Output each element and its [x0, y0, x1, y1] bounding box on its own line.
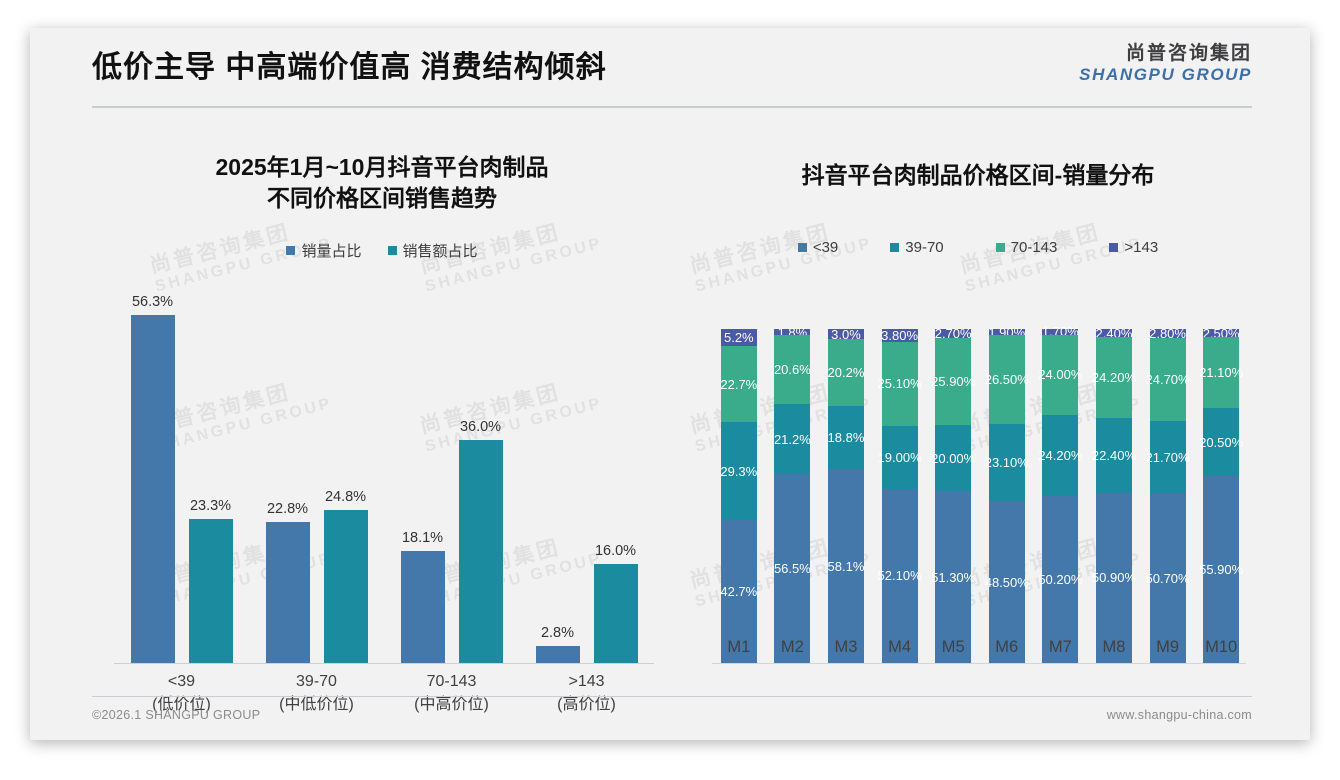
- stack-segment-label: 58.1%: [828, 559, 865, 574]
- stack-segment-label: 50.90%: [1092, 570, 1136, 585]
- bar-value-label: 18.1%: [402, 530, 443, 546]
- legend-label: 39-70: [905, 239, 943, 256]
- left-chart-legend: 销量占比 销售额占比: [92, 240, 672, 261]
- stack-segment[interactable]: 21.10%: [1203, 337, 1239, 407]
- legend-label: 销售额占比: [403, 240, 478, 261]
- brand-logo: 尚普咨询集团 SHANGPU GROUP: [1079, 44, 1252, 84]
- stack-segment-label: 21.10%: [1199, 365, 1243, 380]
- x-axis-label: M4: [873, 638, 927, 657]
- right-chart-axis: [712, 663, 1246, 664]
- bar[interactable]: [594, 564, 638, 663]
- slide: 尚普咨询集团 SHANGPU GROUP 尚普咨询集团 SHANGPU GROU…: [30, 28, 1310, 740]
- stack-segment[interactable]: 5.2%: [721, 329, 757, 346]
- stack-column[interactable]: 1.90%26.50%23.10%48.50%: [980, 329, 1034, 663]
- left-chart-axis: [114, 663, 654, 664]
- stack-segment[interactable]: 25.90%: [935, 338, 971, 425]
- bar-value-label: 56.3%: [132, 294, 173, 310]
- left-chart-title-line1: 2025年1月~10月抖音平台肉制品: [92, 152, 672, 183]
- bar-column[interactable]: 22.8%: [266, 292, 310, 663]
- legend-label: >143: [1124, 239, 1158, 256]
- x-axis-label: M5: [926, 638, 980, 657]
- bar[interactable]: [401, 551, 445, 663]
- right-chart-stacks: 5.2%22.7%29.3%42.7%1.8%20.6%21.2%56.5%3.…: [712, 329, 1246, 663]
- legend-swatch-icon: [890, 243, 899, 252]
- x-axis-label: M8: [1087, 638, 1141, 657]
- bar[interactable]: [266, 522, 310, 663]
- stacked-bar[interactable]: 5.2%22.7%29.3%42.7%: [721, 329, 757, 663]
- bar-column[interactable]: 2.8%: [536, 292, 580, 663]
- stack-segment-label: 52.10%: [878, 568, 922, 583]
- x-axis-label-range: 70-143: [384, 670, 519, 693]
- stack-segment[interactable]: 26.50%: [989, 335, 1025, 424]
- stack-segment[interactable]: 24.70%: [1150, 338, 1186, 421]
- stack-segment-label: 51.30%: [931, 570, 975, 585]
- bar[interactable]: [189, 519, 233, 663]
- stacked-bar[interactable]: 2.50%21.10%20.50%55.90%: [1203, 329, 1239, 663]
- bar[interactable]: [324, 510, 368, 663]
- stack-segment[interactable]: 24.20%: [1042, 415, 1078, 496]
- stack-segment[interactable]: 2.80%: [1150, 329, 1186, 338]
- stack-segment-label: 42.7%: [720, 584, 757, 599]
- bar[interactable]: [459, 440, 503, 663]
- stacked-bar[interactable]: 2.80%24.70%21.70%50.70%: [1150, 329, 1186, 663]
- stack-column[interactable]: 1.70%24.00%24.20%50.20%: [1034, 329, 1088, 663]
- footer-divider: [92, 696, 1252, 697]
- footer-copyright: ©2026.1 SHANGPU GROUP: [92, 708, 260, 722]
- legend-swatch-icon: [996, 243, 1005, 252]
- stack-segment-label: 29.3%: [720, 464, 757, 479]
- stack-segment-label: 26.50%: [985, 372, 1029, 387]
- stack-column[interactable]: 2.40%24.20%22.40%50.90%: [1087, 329, 1141, 663]
- stacked-bar[interactable]: 1.8%20.6%21.2%56.5%: [774, 329, 810, 663]
- stack-segment[interactable]: 21.2%: [774, 404, 810, 475]
- stack-segment[interactable]: 21.70%: [1150, 421, 1186, 494]
- stack-segment-label: 24.00%: [1038, 367, 1082, 382]
- bar-value-label: 16.0%: [595, 543, 636, 559]
- legend-label: <39: [813, 239, 838, 256]
- legend-label: 70-143: [1011, 239, 1058, 256]
- logo-cn-text: 尚普咨询集团: [1079, 44, 1252, 64]
- x-axis-label: M10: [1194, 638, 1246, 657]
- bar-value-label: 2.8%: [541, 625, 574, 641]
- x-axis-label: M7: [1034, 638, 1088, 657]
- right-chart-clip: 5.2%22.7%29.3%42.7%1.8%20.6%21.2%56.5%3.…: [702, 298, 1246, 664]
- stack-segment-label: 20.6%: [774, 362, 811, 377]
- stacked-bar[interactable]: 2.40%24.20%22.40%50.90%: [1096, 329, 1132, 663]
- stack-segment[interactable]: 2.50%: [1203, 329, 1239, 337]
- stack-segment-label: 56.5%: [774, 561, 811, 576]
- stack-segment[interactable]: 58.1%: [828, 469, 864, 663]
- bar-value-label: 23.3%: [190, 498, 231, 514]
- x-axis-label: M1: [712, 638, 766, 657]
- legend-swatch-icon: [798, 243, 807, 252]
- stack-segment[interactable]: 29.3%: [721, 422, 757, 520]
- stack-segment-label: 24.70%: [1146, 372, 1190, 387]
- bar-group: 18.1%36.0%: [384, 292, 519, 663]
- x-axis-label-range: 39-70: [249, 670, 384, 693]
- stack-segment-label: 23.10%: [985, 455, 1029, 470]
- stack-segment[interactable]: 56.5%: [774, 474, 810, 663]
- stack-segment-label: 21.2%: [774, 432, 811, 447]
- stack-segment-label: 50.70%: [1146, 571, 1190, 586]
- bar-value-label: 24.8%: [325, 489, 366, 505]
- x-axis-label: M6: [980, 638, 1034, 657]
- right-chart-plot: 5.2%22.7%29.3%42.7%1.8%20.6%21.2%56.5%3.…: [708, 298, 1246, 664]
- bar-column[interactable]: 23.3%: [189, 292, 233, 663]
- stack-segment[interactable]: 3.0%: [828, 329, 864, 339]
- legend-item-70-143[interactable]: 70-143: [996, 239, 1058, 256]
- bar[interactable]: [536, 646, 580, 663]
- stack-segment-label: 50.20%: [1038, 572, 1082, 587]
- legend-item-39-70[interactable]: 39-70: [890, 239, 943, 256]
- stack-segment-label: 55.90%: [1199, 562, 1243, 577]
- stack-segment-label: 3.80%: [881, 328, 918, 343]
- stack-segment[interactable]: 20.00%: [935, 425, 971, 492]
- legend-swatch-icon: [286, 246, 295, 255]
- stack-segment[interactable]: 2.40%: [1096, 329, 1132, 337]
- header-divider: [92, 106, 1252, 108]
- right-chart-title: 抖音平台肉制品价格区间-销量分布: [702, 160, 1254, 191]
- bar-value-label: 36.0%: [460, 419, 501, 435]
- bar-column[interactable]: 24.8%: [324, 292, 368, 663]
- logo-en-text: SHANGPU GROUP: [1079, 66, 1252, 84]
- legend-item-sales-volume[interactable]: 销量占比: [286, 240, 361, 261]
- stacked-bar[interactable]: 3.0%20.2%18.8%58.1%: [828, 329, 864, 663]
- bar-group: 22.8%24.8%: [249, 292, 384, 663]
- footer-website: www.shangpu-china.com: [1107, 708, 1252, 722]
- x-axis-label: M9: [1141, 638, 1195, 657]
- stack-segment-label: 19.00%: [878, 450, 922, 465]
- page-title: 低价主导 中高端价值高 消费结构倾斜: [92, 42, 607, 86]
- bar-group: 2.8%16.0%: [519, 292, 654, 663]
- stack-column[interactable]: 5.2%22.7%29.3%42.7%: [712, 329, 766, 663]
- stack-segment-label: 24.20%: [1092, 370, 1136, 385]
- x-axis-label: M2: [766, 638, 820, 657]
- bar-column[interactable]: 36.0%: [459, 292, 503, 663]
- x-axis-label: 39-70(中低价位): [249, 670, 384, 716]
- stack-segment[interactable]: 23.10%: [989, 424, 1025, 501]
- stack-segment[interactable]: 20.2%: [828, 339, 864, 406]
- legend-swatch-icon: [1109, 243, 1118, 252]
- stack-segment[interactable]: 22.40%: [1096, 418, 1132, 493]
- right-chart-panel: 抖音平台肉制品价格区间-销量分布 <39 39-70 70-143 >143: [702, 120, 1254, 690]
- bar-group: 56.3%23.3%: [114, 292, 249, 663]
- stack-segment-label: 20.50%: [1199, 435, 1243, 450]
- stack-segment-label: 5.2%: [724, 330, 754, 345]
- bar-column[interactable]: 16.0%: [594, 292, 638, 663]
- stack-segment-label: 48.50%: [985, 575, 1029, 590]
- stack-column[interactable]: 3.80%25.10%19.00%52.10%: [873, 329, 927, 663]
- stack-segment[interactable]: 18.8%: [828, 406, 864, 469]
- x-axis-label: 70-143(中高价位): [384, 670, 519, 716]
- right-chart-x-labels: M1M2M3M4M5M6M7M8M9M10: [712, 638, 1246, 657]
- x-axis-label: M3: [819, 638, 873, 657]
- bar-column[interactable]: 56.3%: [131, 292, 175, 663]
- x-axis-label-range: <39: [114, 670, 249, 693]
- stack-segment[interactable]: 3.80%: [882, 329, 918, 342]
- stack-segment[interactable]: 2.70%: [935, 329, 971, 338]
- stack-segment-label: 22.40%: [1092, 448, 1136, 463]
- stack-segment[interactable]: 52.10%: [882, 489, 918, 663]
- legend-swatch-icon: [388, 246, 397, 255]
- stack-column[interactable]: 3.0%20.2%18.8%58.1%: [819, 329, 873, 663]
- legend-item-lt39[interactable]: <39: [798, 239, 838, 256]
- left-chart-panel: 2025年1月~10月抖音平台肉制品 不同价格区间销售趋势 销量占比 销售额占比…: [92, 120, 672, 690]
- stack-segment[interactable]: 25.10%: [882, 342, 918, 426]
- bar[interactable]: [131, 315, 175, 663]
- stack-segment[interactable]: 20.50%: [1203, 408, 1239, 476]
- stack-segment[interactable]: 24.00%: [1042, 335, 1078, 415]
- stack-segment-label: 25.90%: [931, 374, 975, 389]
- stacked-bar[interactable]: 1.70%24.00%24.20%50.20%: [1042, 329, 1078, 663]
- left-chart-title-line2: 不同价格区间销售趋势: [92, 183, 672, 214]
- stacked-bar[interactable]: 1.90%26.50%23.10%48.50%: [989, 329, 1025, 663]
- legend-label: 销量占比: [301, 240, 361, 261]
- left-chart-bar-groups: 56.3%23.3%22.8%24.8%18.1%36.0%2.8%16.0%: [114, 292, 654, 663]
- stack-segment-label: 24.20%: [1038, 448, 1082, 463]
- stack-segment-label: 21.70%: [1146, 450, 1190, 465]
- legend-item-sales-amount[interactable]: 销售额占比: [388, 240, 478, 261]
- stack-segment[interactable]: 55.90%: [1203, 476, 1239, 663]
- stack-segment[interactable]: 22.7%: [721, 346, 757, 422]
- stack-segment[interactable]: 24.20%: [1096, 337, 1132, 418]
- x-axis-label: >143(高价位): [519, 670, 654, 716]
- legend-item-gt143[interactable]: >143: [1109, 239, 1158, 256]
- left-chart-plot: 56.3%23.3%22.8%24.8%18.1%36.0%2.8%16.0% …: [100, 292, 664, 664]
- bar-value-label: 22.8%: [267, 501, 308, 517]
- stack-segment-label: 25.10%: [878, 376, 922, 391]
- stack-segment[interactable]: 20.6%: [774, 335, 810, 404]
- stack-segment-label: 20.2%: [828, 365, 865, 380]
- bar-column[interactable]: 18.1%: [401, 292, 445, 663]
- slide-header: 低价主导 中高端价值高 消费结构倾斜 尚普咨询集团 SHANGPU GROUP: [30, 28, 1310, 106]
- stack-column[interactable]: 2.80%24.70%21.70%50.70%: [1141, 329, 1195, 663]
- x-axis-label-range: >143: [519, 670, 654, 693]
- left-chart-title: 2025年1月~10月抖音平台肉制品 不同价格区间销售趋势: [92, 152, 672, 214]
- right-chart-legend: <39 39-70 70-143 >143: [702, 239, 1254, 256]
- stacked-bar[interactable]: 2.70%25.90%20.00%51.30%: [935, 329, 971, 663]
- stack-segment[interactable]: 19.00%: [882, 426, 918, 489]
- stacked-bar[interactable]: 3.80%25.10%19.00%52.10%: [882, 329, 918, 663]
- stack-segment-label: 20.00%: [931, 451, 975, 466]
- stack-segment-label: 18.8%: [828, 430, 865, 445]
- stack-column[interactable]: 2.70%25.90%20.00%51.30%: [926, 329, 980, 663]
- stack-column[interactable]: 2.50%21.10%20.50%55.90%: [1194, 329, 1246, 663]
- stack-column[interactable]: 1.8%20.6%21.2%56.5%: [766, 329, 820, 663]
- stack-segment-label: 22.7%: [720, 377, 757, 392]
